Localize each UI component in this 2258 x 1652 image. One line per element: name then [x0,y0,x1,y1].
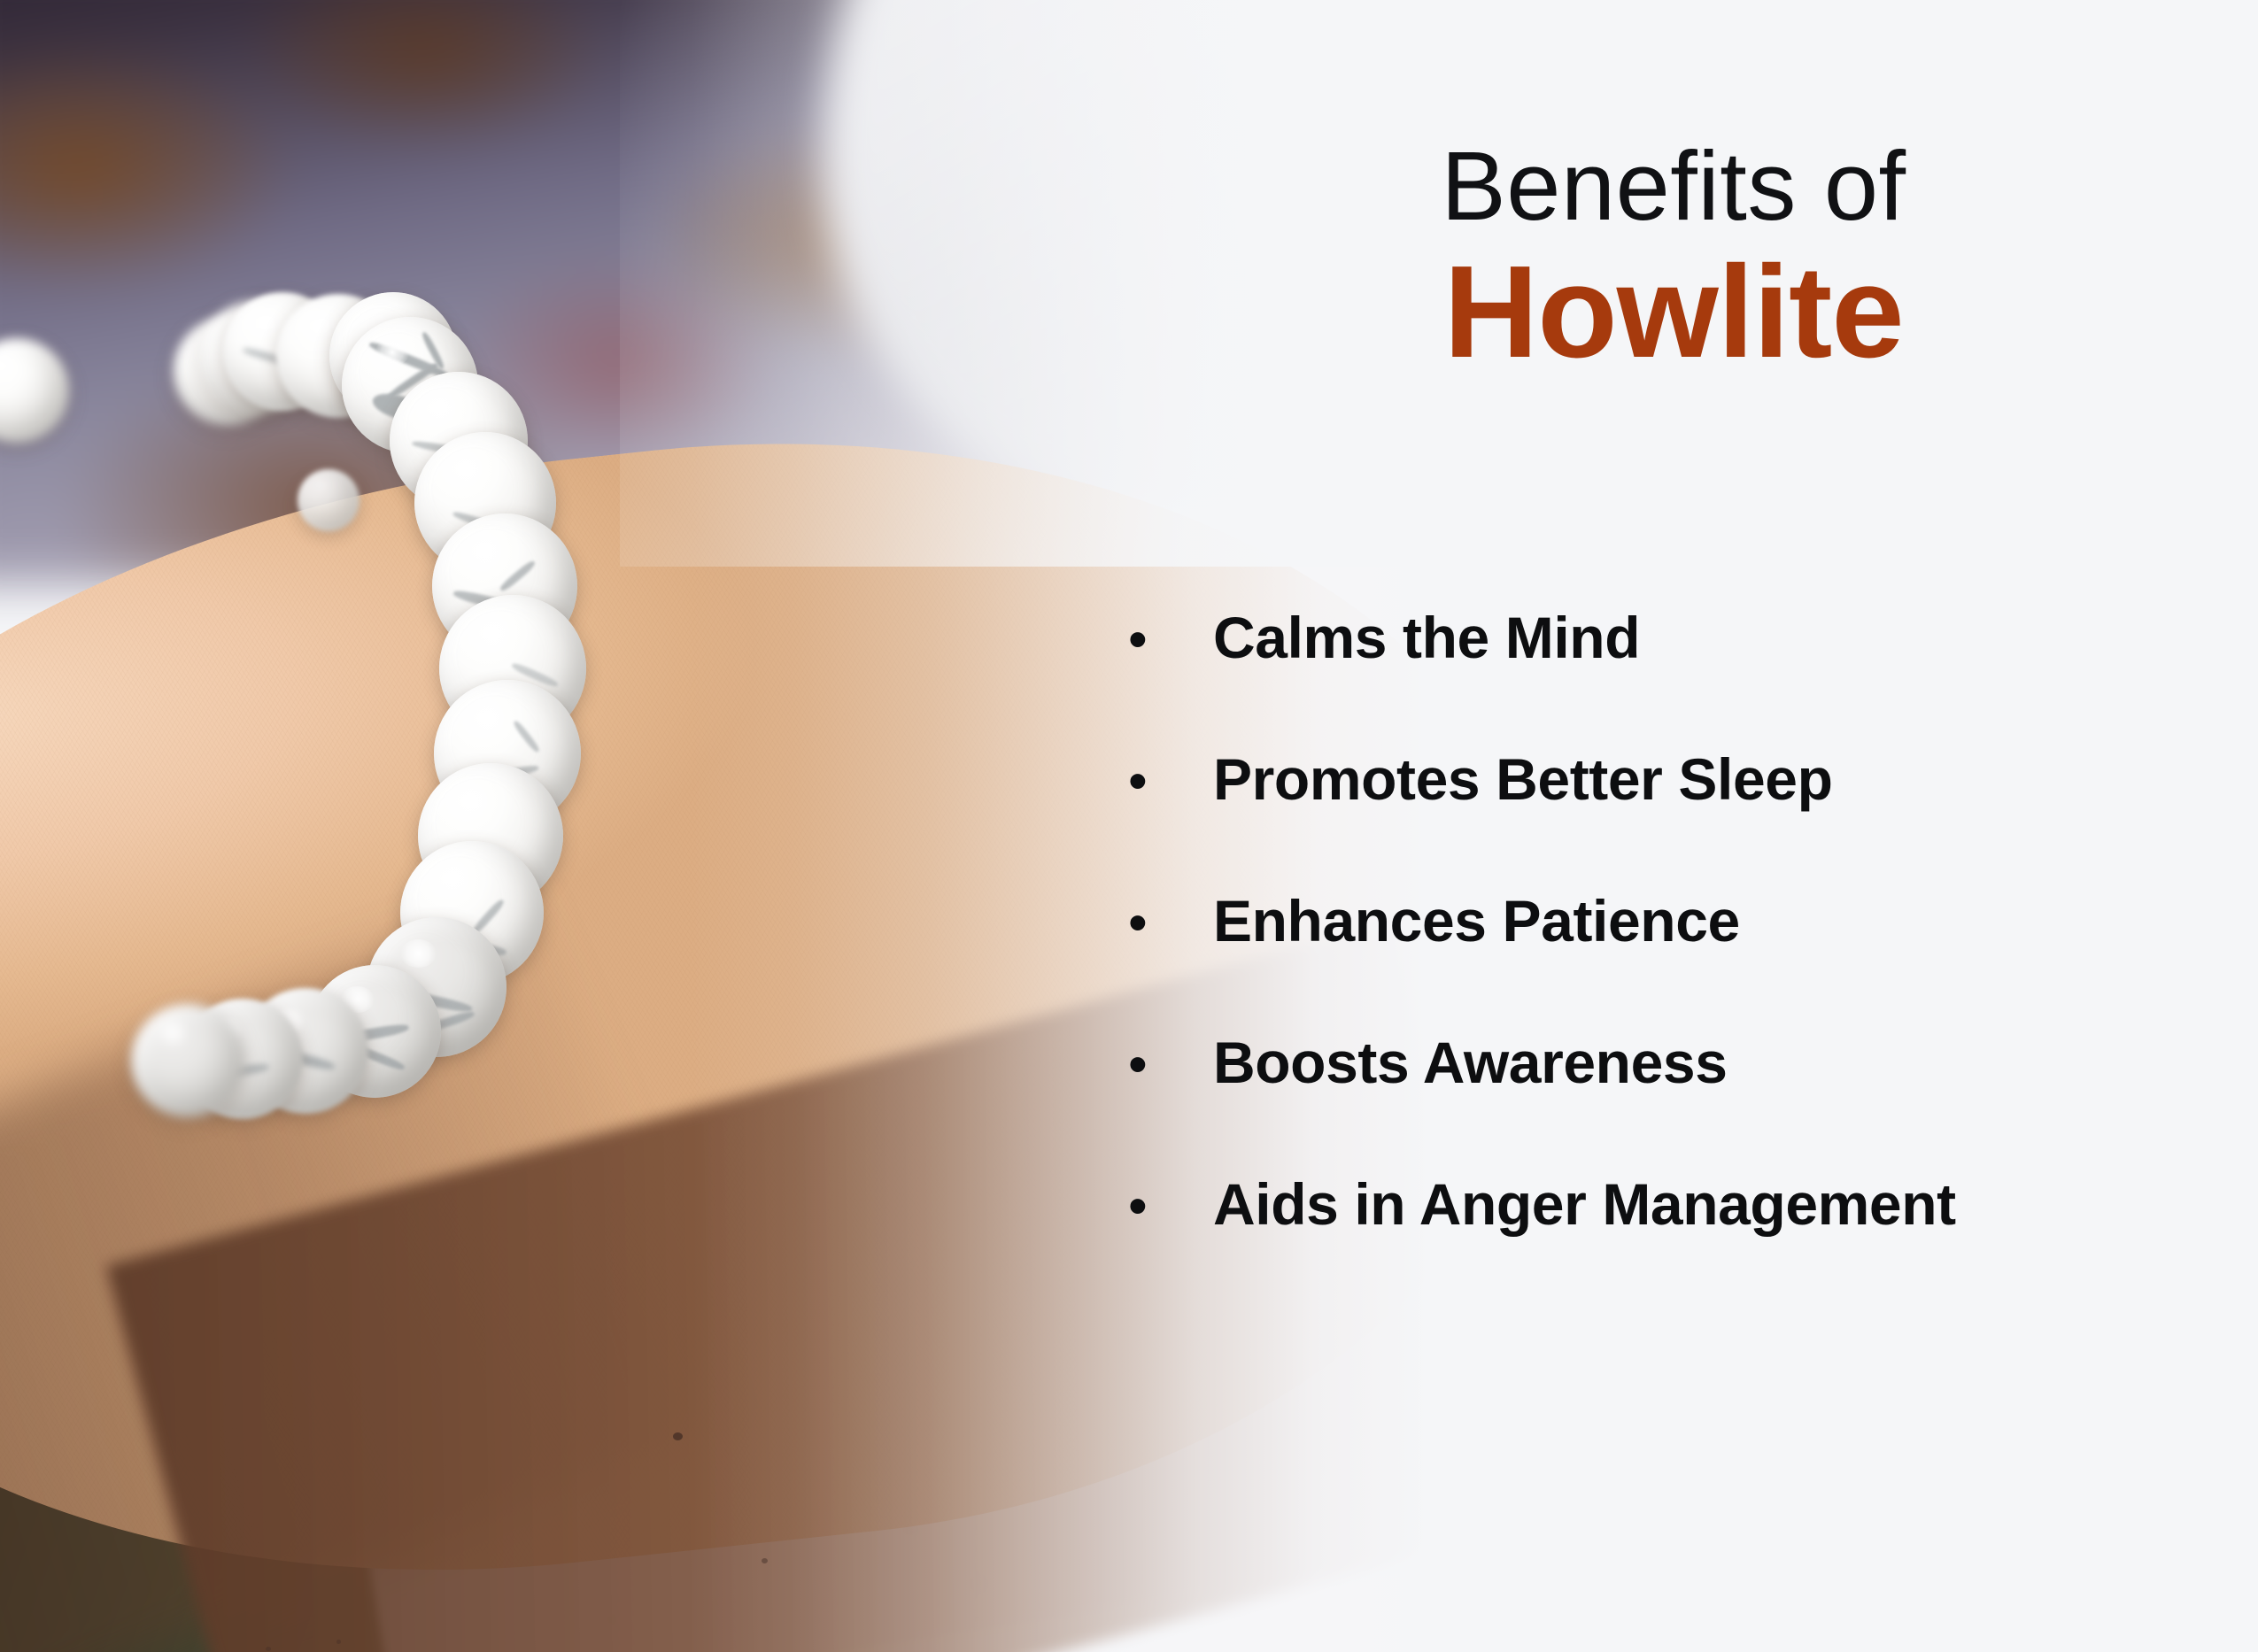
bead-highlight [435,864,472,892]
skin-freckle [266,1647,271,1651]
benefit-label: Aids in Anger Management [1213,1170,2258,1238]
bead-highlight [422,394,459,421]
benefits-list: • Calms the Mind • Promotes Better Sleep… [1119,604,2258,1312]
list-item: • Aids in Anger Management [1119,1170,2258,1312]
bead-highlight [452,786,491,815]
title-stone-name: Howlite [1089,242,2258,383]
bead-highlight [469,704,507,733]
list-item: • Promotes Better Sleep [1119,745,2258,887]
bead-highlight [375,339,410,367]
title-block: Benefits of Howlite [1089,133,2258,383]
bullet-icon: • [1119,613,1213,668]
list-item: • Calms the Mind [1119,604,2258,745]
skin-freckle [673,1432,683,1440]
list-item: • Boosts Awareness [1119,1029,2258,1170]
benefit-label: Enhances Patience [1213,887,2258,954]
bead-highlight [467,537,505,566]
bullet-icon: • [1119,1179,1213,1234]
list-item: • Enhances Patience [1119,887,2258,1029]
bullet-icon: • [1119,896,1213,951]
bracelet-bead [298,469,360,531]
bead-highlight [159,1022,188,1045]
bullet-icon: • [1119,754,1213,809]
title-prefix: Benefits of [1089,133,2258,240]
benefit-label: Boosts Awareness [1213,1029,2258,1096]
infographic-canvas: Benefits of Howlite • Calms the Mind • P… [0,0,2258,1652]
bead-highlight [400,939,437,968]
bracelet-bead [131,1004,244,1117]
bead-highlight [448,455,485,483]
benefit-label: Calms the Mind [1213,604,2258,671]
benefit-label: Promotes Better Sleep [1213,745,2258,813]
bead-highlight [475,619,513,648]
skin-freckle [762,1558,768,1563]
bead-highlight [313,479,329,491]
bullet-icon: • [1119,1038,1213,1092]
text-panel: Benefits of Howlite • Calms the Mind • P… [1089,0,2258,1652]
bead-highlight [0,355,17,376]
skin-freckle [336,1640,341,1644]
